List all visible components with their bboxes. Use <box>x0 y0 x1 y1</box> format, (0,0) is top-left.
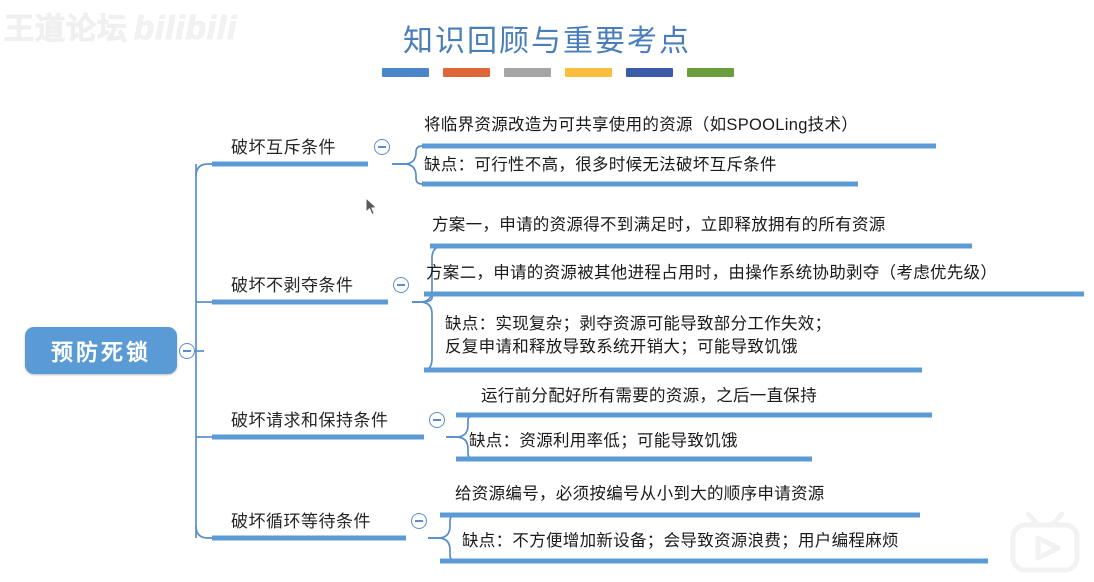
header-bar-gray <box>504 68 551 77</box>
leaf-node-text[interactable]: 方案一，申请的资源得不到满足时，立即释放拥有的所有资源 <box>432 214 886 237</box>
header-color-bars <box>382 68 734 77</box>
header-bar-orange <box>443 68 490 77</box>
header-bar-green <box>687 68 734 77</box>
branch-collapse-toggle-icon-1[interactable] <box>374 139 390 155</box>
root-node-prevent-deadlock[interactable]: 预防死锁 <box>25 327 177 374</box>
mouse-cursor-icon <box>365 197 379 217</box>
header-bar-yellow <box>565 68 612 77</box>
branch-label-break-hold-and-wait[interactable]: 破坏请求和保持条件 <box>231 406 389 431</box>
leaf-node-text[interactable]: 缺点：可行性不高，很多时候无法破坏互斥条件 <box>424 154 777 177</box>
leaf-node-text[interactable]: 方案二，申请的资源被其他进程占用时，由操作系统协助剥夺（考虑优先级） <box>426 262 997 285</box>
leaf-line-2: 反复申请和释放导致系统开销大；可能导致饥饿 <box>445 336 945 359</box>
leaf-line-1: 缺点：实现复杂；剥夺资源可能导致部分工作失效； <box>445 313 945 336</box>
branch-label-break-no-preemption[interactable]: 破坏不剥夺条件 <box>231 271 354 296</box>
branch-label-break-circular-wait[interactable]: 破坏循环等待条件 <box>231 507 371 532</box>
root-collapse-toggle-icon[interactable] <box>179 343 195 359</box>
bilibili-tv-logo-icon <box>1006 508 1084 574</box>
leaf-node-text[interactable]: 给资源编号，必须按编号从小到大的顺序申请资源 <box>455 483 825 506</box>
leaf-node-text[interactable]: 运行前分配好所有需要的资源，之后一直保持 <box>481 385 817 408</box>
branch-collapse-toggle-icon-2[interactable] <box>393 277 409 293</box>
branch-label-break-mutual-exclusion[interactable]: 破坏互斥条件 <box>231 133 336 158</box>
leaf-node-text-multiline[interactable]: 缺点：实现复杂；剥夺资源可能导致部分工作失效； 反复申请和释放导致系统开销大；可… <box>445 313 945 359</box>
page-title: 知识回顾与重要考点 <box>0 16 1094 60</box>
root-node-label: 预防死锁 <box>51 335 151 367</box>
leaf-node-text[interactable]: 缺点：不方便增加新设备；会导致资源浪费；用户编程麻烦 <box>462 530 899 553</box>
leaf-node-text[interactable]: 缺点：资源利用率低；可能导致饥饿 <box>469 430 738 453</box>
leaf-node-text[interactable]: 将临界资源改造为可共享使用的资源（如SPOOLing技术） <box>424 114 858 137</box>
header-bar-dark-blue <box>626 68 673 77</box>
header-bar-blue <box>382 68 429 77</box>
slide-canvas: 王道论坛bilibili 知识回顾与重要考点 <box>0 0 1094 582</box>
branch-collapse-toggle-icon-4[interactable] <box>411 513 427 529</box>
branch-collapse-toggle-icon-3[interactable] <box>429 412 445 428</box>
